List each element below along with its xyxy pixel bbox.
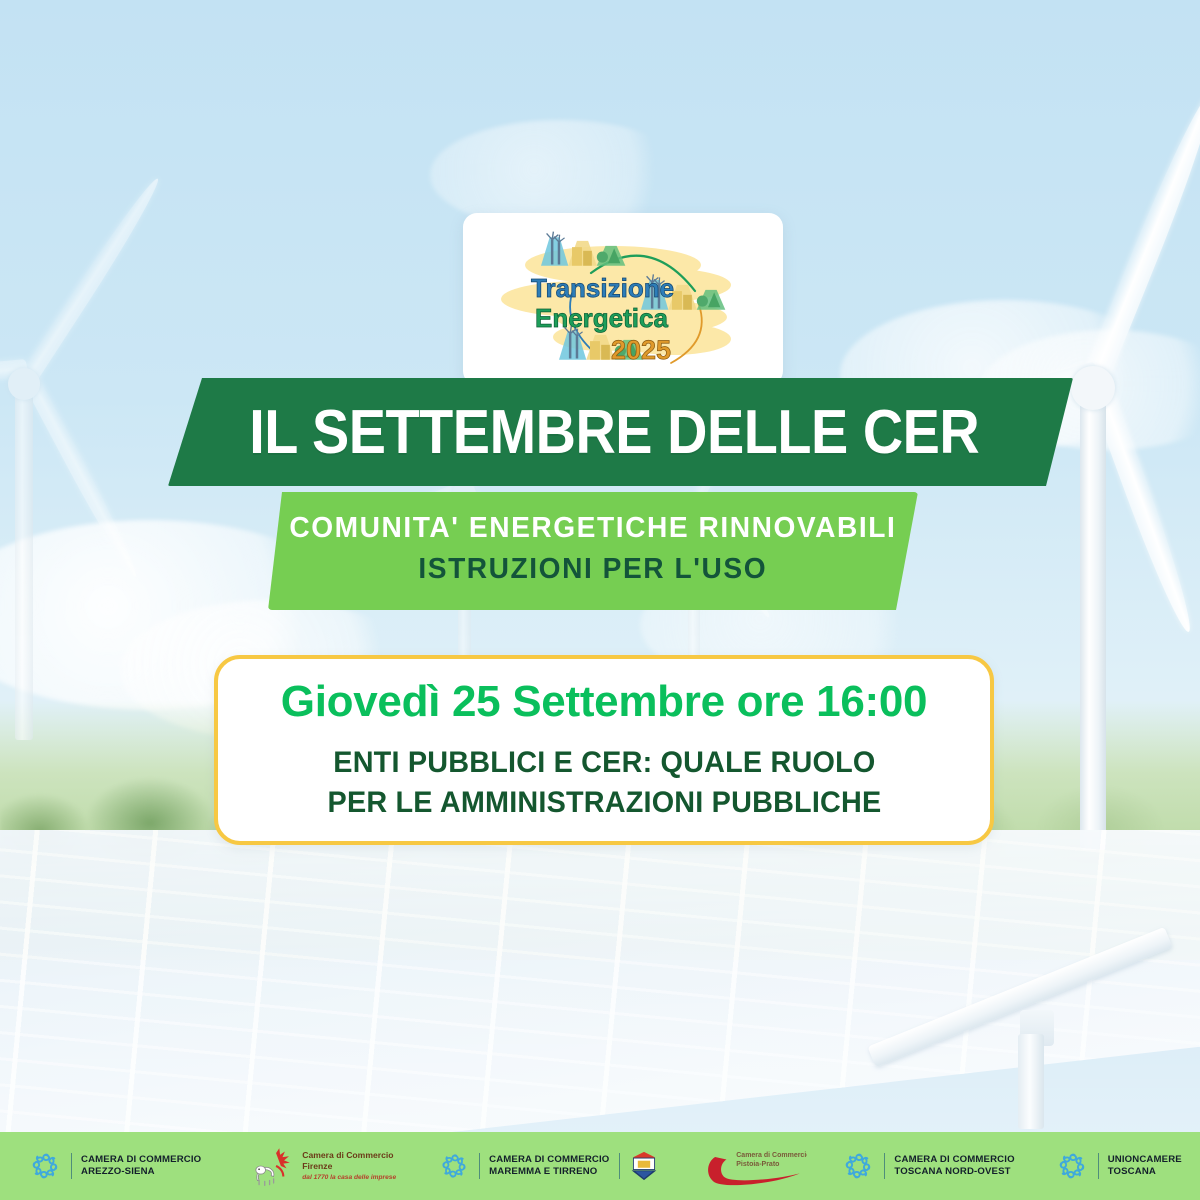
logo-unioncamere-toscana: UNIONCAMERE TOSCANA <box>1055 1132 1182 1200</box>
event-logo-card: Transizione Energetica 2025 <box>463 213 783 385</box>
logo-line-2: MAREMMA E TIRRENO <box>489 1166 609 1178</box>
divider <box>619 1153 620 1179</box>
logo-label: UNIONCAMERE TOSCANA <box>1108 1154 1182 1179</box>
logo-label: CAMERA DI COMMERCIO AREZZO-SIENA <box>81 1154 201 1179</box>
logo-line-1: CAMERA DI COMMERCIO <box>81 1154 201 1166</box>
logo-line-2: TOSCANA NORD-OVEST <box>894 1166 1014 1178</box>
subtitle-line-2: ISTRUZIONI PER L'USO <box>419 553 768 586</box>
divider <box>479 1153 480 1179</box>
unioncamere-swirl-icon <box>1055 1149 1089 1183</box>
logo-line-2: TOSCANA <box>1108 1166 1182 1178</box>
solar-panel-mount <box>870 946 1170 1126</box>
divider <box>71 1153 72 1179</box>
logo-line-1: CAMERA DI COMMERCIO <box>894 1154 1014 1166</box>
divider <box>1098 1153 1099 1179</box>
logo-tagline: dal 1770 la casa delle imprese <box>302 1174 396 1183</box>
transizione-energetica-logo-icon: Transizione Energetica 2025 <box>463 213 783 385</box>
unioncamere-swirl-icon <box>28 1149 62 1183</box>
session-title-line-2: PER LE AMMINISTRAZIONI PUBBLICHE <box>327 783 881 823</box>
maremma-shield-icon <box>629 1150 659 1182</box>
session-title-line-1: ENTI PUBBLICI E CER: QUALE RUOLO <box>333 743 875 783</box>
logo-camera-commercio-firenze: Camera di Commercio Firenze dal 1770 la … <box>249 1132 396 1200</box>
subtitle-line-1: COMUNITA' ENERGETICHE RINNOVABILI <box>290 512 897 545</box>
event-date: Giovedì 25 Settembre ore 16:00 <box>281 677 927 727</box>
subtitle-banner: COMUNITA' ENERGETICHE RINNOVABILI ISTRUZ… <box>268 492 918 610</box>
logo-line-2: Pistoia-Prato <box>737 1161 780 1168</box>
logo-camera-commercio-toscana-nord-ovest: CAMERA DI COMMERCIO TOSCANA NORD-OVEST <box>841 1132 1014 1200</box>
pistoia-prato-swoosh-icon: Camera di Commercio Pistoia-Prato <box>703 1144 807 1188</box>
solar-panel-array <box>0 830 1200 1140</box>
logo-label: CAMERA DI COMMERCIO TOSCANA NORD-OVEST <box>894 1154 1014 1179</box>
logo-line-1: CAMERA DI COMMERCIO <box>489 1154 609 1166</box>
logo-line-2: Firenze <box>302 1161 396 1172</box>
logo-camera-commercio-arezzo-siena: CAMERA DI COMMERCIO AREZZO-SIENA <box>28 1132 201 1200</box>
logo-label: Camera di Commercio Firenze dal 1770 la … <box>302 1150 396 1183</box>
logo-line1: Transizione <box>531 273 674 303</box>
divider <box>884 1153 885 1179</box>
logo-line-1: Camera di Commercio <box>737 1152 808 1159</box>
logo-camera-commercio-pistoia-prato: Camera di Commercio Pistoia-Prato <box>703 1132 807 1200</box>
logo-line2: Energetica <box>535 303 668 333</box>
event-info-card: Giovedì 25 Settembre ore 16:00 ENTI PUBB… <box>214 655 994 845</box>
title-banner: IL SETTEMBRE DELLE CER <box>168 378 1073 486</box>
logo-label: CAMERA DI COMMERCIO MAREMMA E TIRRENO <box>489 1154 609 1179</box>
unioncamere-swirl-icon <box>438 1150 470 1182</box>
logo-year: 2025 <box>611 335 671 365</box>
poster-canvas: Transizione Energetica 2025 IL SETTEMBRE… <box>0 0 1200 1200</box>
firenze-lamb-icon <box>249 1145 295 1187</box>
logo-line-1: UNIONCAMERE <box>1108 1154 1182 1166</box>
page-title: IL SETTEMBRE DELLE CER <box>249 397 992 468</box>
partner-logos-footer: CAMERA DI COMMERCIO AREZZO-SIENA Camera … <box>0 1132 1200 1200</box>
logo-line-1: Camera di Commercio <box>302 1150 396 1161</box>
unioncamere-swirl-icon <box>841 1149 875 1183</box>
logo-line-2: AREZZO-SIENA <box>81 1166 201 1178</box>
logo-camera-commercio-maremma-tirreno: CAMERA DI COMMERCIO MAREMMA E TIRRENO <box>438 1132 659 1200</box>
